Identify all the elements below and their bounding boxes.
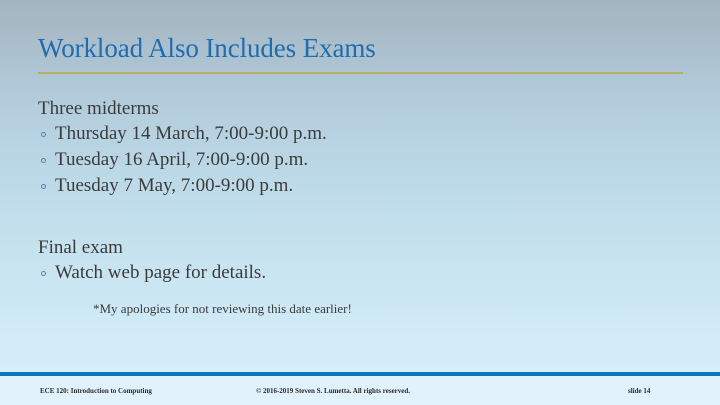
bullet-list-midterms: Thursday 14 March, 7:00-9:00 p.m. Tuesda… xyxy=(38,121,698,199)
group-heading: Final exam xyxy=(38,235,698,260)
footer-copyright-label: © 2016-2019 Steven S. Lumetta. All right… xyxy=(256,386,410,396)
title-underline-rule xyxy=(38,72,683,74)
title-block: Workload Also Includes Exams xyxy=(38,33,688,64)
list-item: Tuesday 16 April, 7:00-9:00 p.m. xyxy=(38,147,698,173)
slide-footer: ECE 120: Introduction to Computing © 201… xyxy=(0,376,720,405)
page-title: Workload Also Includes Exams xyxy=(38,33,688,64)
footer-course-label: ECE 120: Introduction to Computing xyxy=(40,386,152,396)
hollow-circle-bullet-icon xyxy=(41,271,46,276)
group-heading: Three midterms xyxy=(38,96,698,121)
footnote-text: *My apologies for not reviewing this dat… xyxy=(93,300,352,317)
list-item: Watch web page for details. xyxy=(38,260,698,286)
hollow-circle-bullet-icon xyxy=(41,158,46,163)
slide-body: Three midterms Thursday 14 March, 7:00-9… xyxy=(38,96,698,286)
bullet-list-final-exam: Watch web page for details. xyxy=(38,260,698,286)
list-item-label: Tuesday 16 April, 7:00-9:00 p.m. xyxy=(55,147,308,173)
list-item-label: Watch web page for details. xyxy=(55,260,266,286)
list-item-label: Tuesday 7 May, 7:00-9:00 p.m. xyxy=(55,173,293,199)
slide-canvas: Workload Also Includes Exams Three midte… xyxy=(0,0,720,405)
hollow-circle-bullet-icon xyxy=(41,132,46,137)
hollow-circle-bullet-icon xyxy=(41,184,46,189)
content-group-final-exam: Final exam Watch web page for details. xyxy=(38,235,698,286)
list-item: Tuesday 7 May, 7:00-9:00 p.m. xyxy=(38,173,698,199)
list-item-label: Thursday 14 March, 7:00-9:00 p.m. xyxy=(55,121,327,147)
content-group-midterms: Three midterms Thursday 14 March, 7:00-9… xyxy=(38,96,698,199)
list-item: Thursday 14 March, 7:00-9:00 p.m. xyxy=(38,121,698,147)
footer-slide-number: slide 14 xyxy=(628,386,650,396)
